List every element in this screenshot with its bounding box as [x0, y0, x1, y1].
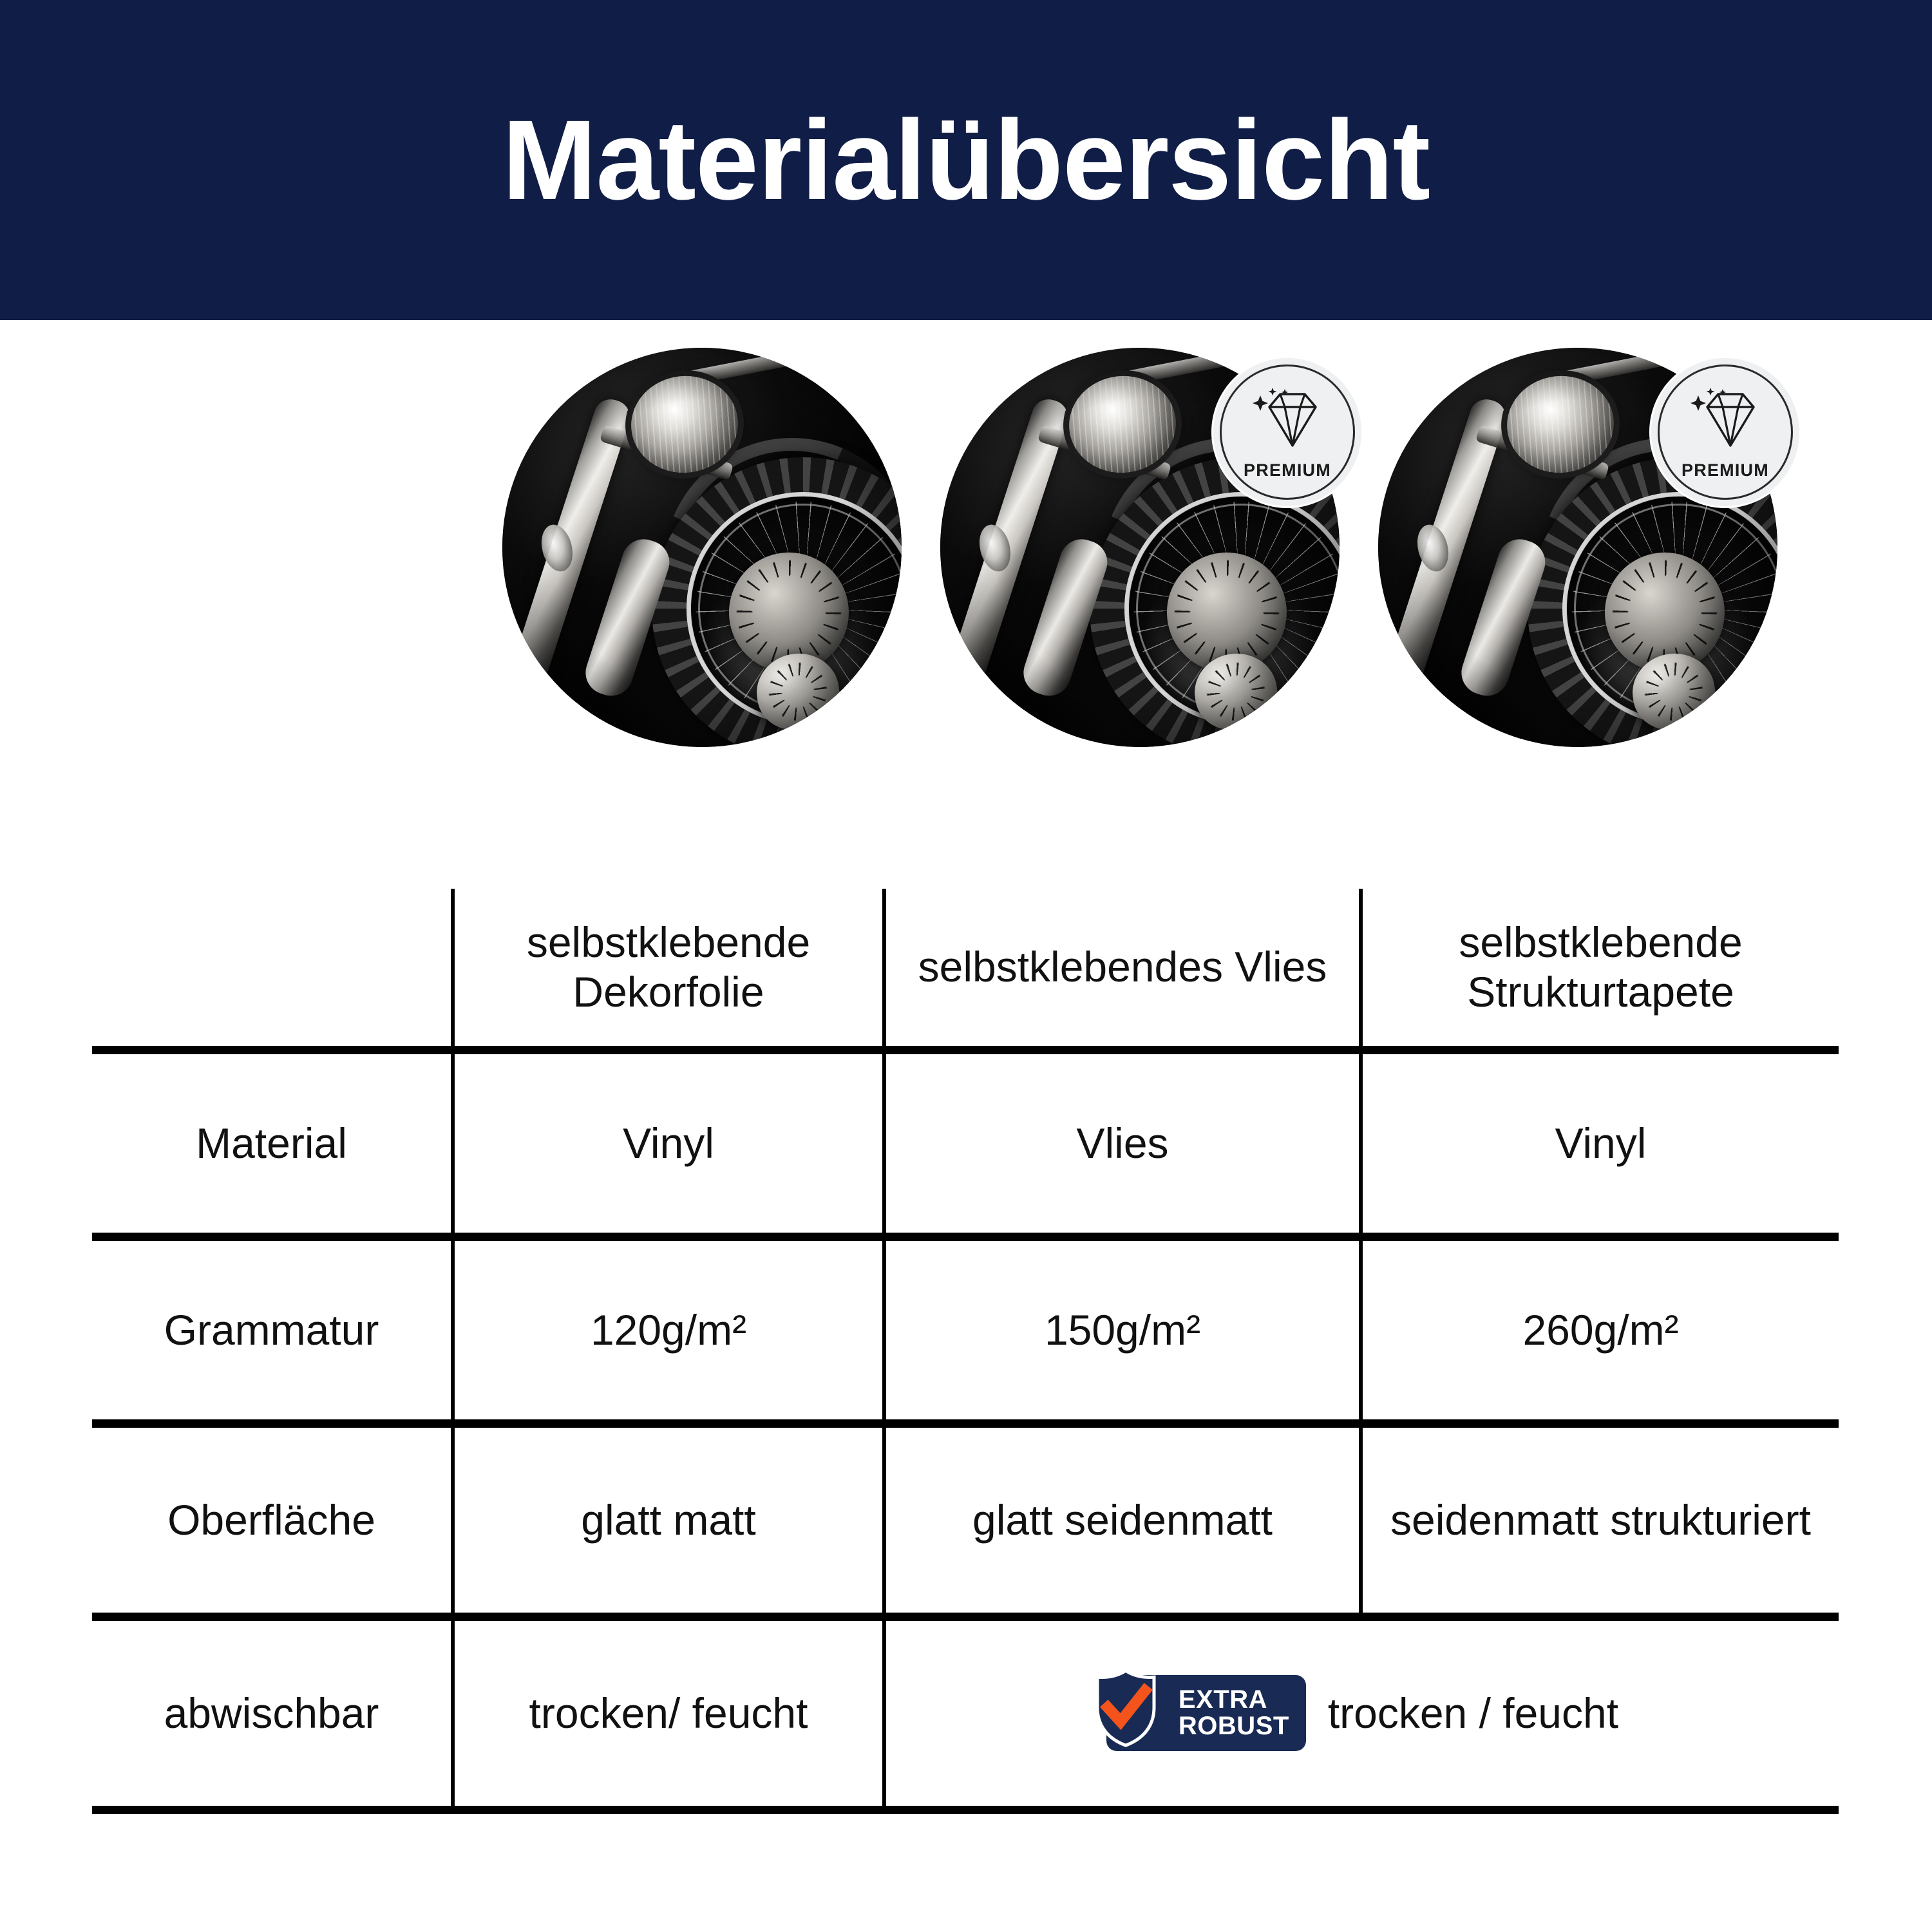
product-thumb-strukturtapete[interactable]: PREMIUM [1378, 348, 1777, 747]
premium-badge: PREMIUM [1213, 358, 1361, 506]
table-header-strukturtapete: selbstklebende Strukturtapete [1361, 889, 1839, 1050]
shield-check-icon [1092, 1667, 1159, 1759]
cell-material-dekorfolie: Vinyl [453, 1050, 884, 1236]
premium-badge-label: PREMIUM [1244, 462, 1331, 479]
cell-material-vlies: Vlies [884, 1050, 1361, 1236]
table-header-corner [92, 889, 453, 1050]
product-image-strip: PREMIUM [0, 348, 1932, 766]
page-title: Materialübersicht [502, 104, 1430, 217]
extra-robust-line2: ROBUST [1179, 1713, 1289, 1739]
row-label-material: Material [92, 1050, 453, 1236]
table-row: Material Vinyl Vlies Vinyl [92, 1050, 1839, 1236]
header-band: Materialübersicht [0, 0, 1932, 320]
cell-grammatur-dekorfolie: 120g/m² [453, 1236, 884, 1423]
material-overview-page: Materialübersicht [0, 0, 1932, 1932]
cell-abwischbar-dekorfolie: trocken/ feucht [453, 1616, 884, 1810]
table-header-row: selbstklebende Dekorfolie selbstklebende… [92, 889, 1839, 1050]
cell-abwischbar-vlies-strukturtapete: EXTRA ROBUST trocken / feucht [884, 1616, 1839, 1810]
cell-oberflaeche-dekorfolie: glatt matt [453, 1423, 884, 1616]
product-thumb-dekorfolie[interactable] [502, 348, 902, 747]
cell-oberflaeche-vlies: glatt seidenmatt [884, 1423, 1361, 1616]
motorcycle-photo [502, 348, 902, 747]
product-thumb-vlies[interactable]: PREMIUM [940, 348, 1340, 747]
table-row: Grammatur 120g/m² 150g/m² 260g/m² [92, 1236, 1839, 1423]
row-label-grammatur: Grammatur [92, 1236, 453, 1423]
cell-material-strukturtapete: Vinyl [1361, 1050, 1839, 1236]
premium-badge-label: PREMIUM [1681, 462, 1769, 479]
cell-grammatur-strukturtapete: 260g/m² [1361, 1236, 1839, 1423]
diamond-icon [1251, 385, 1323, 458]
row-label-oberflaeche: Oberfläche [92, 1423, 453, 1616]
row-label-abwischbar: abwischbar [92, 1616, 453, 1810]
table-header-vlies: selbstklebendes Vlies [884, 889, 1361, 1050]
table-row: abwischbar trocken/ feucht [92, 1616, 1839, 1810]
diamond-icon [1689, 385, 1761, 458]
premium-badge: PREMIUM [1651, 358, 1799, 506]
extra-robust-badge: EXTRA ROBUST [1106, 1675, 1306, 1751]
material-spec-table: selbstklebende Dekorfolie selbstklebende… [92, 889, 1839, 1814]
extra-robust-line1: EXTRA [1179, 1687, 1289, 1713]
table-header-dekorfolie: selbstklebende Dekorfolie [453, 889, 884, 1050]
cell-abwischbar-value: trocken / feucht [1328, 1689, 1618, 1738]
cell-grammatur-vlies: 150g/m² [884, 1236, 1361, 1423]
table-row: Oberfläche glatt matt glatt seidenmatt s… [92, 1423, 1839, 1616]
cell-oberflaeche-strukturtapete: seidenmatt strukturiert [1361, 1423, 1839, 1616]
